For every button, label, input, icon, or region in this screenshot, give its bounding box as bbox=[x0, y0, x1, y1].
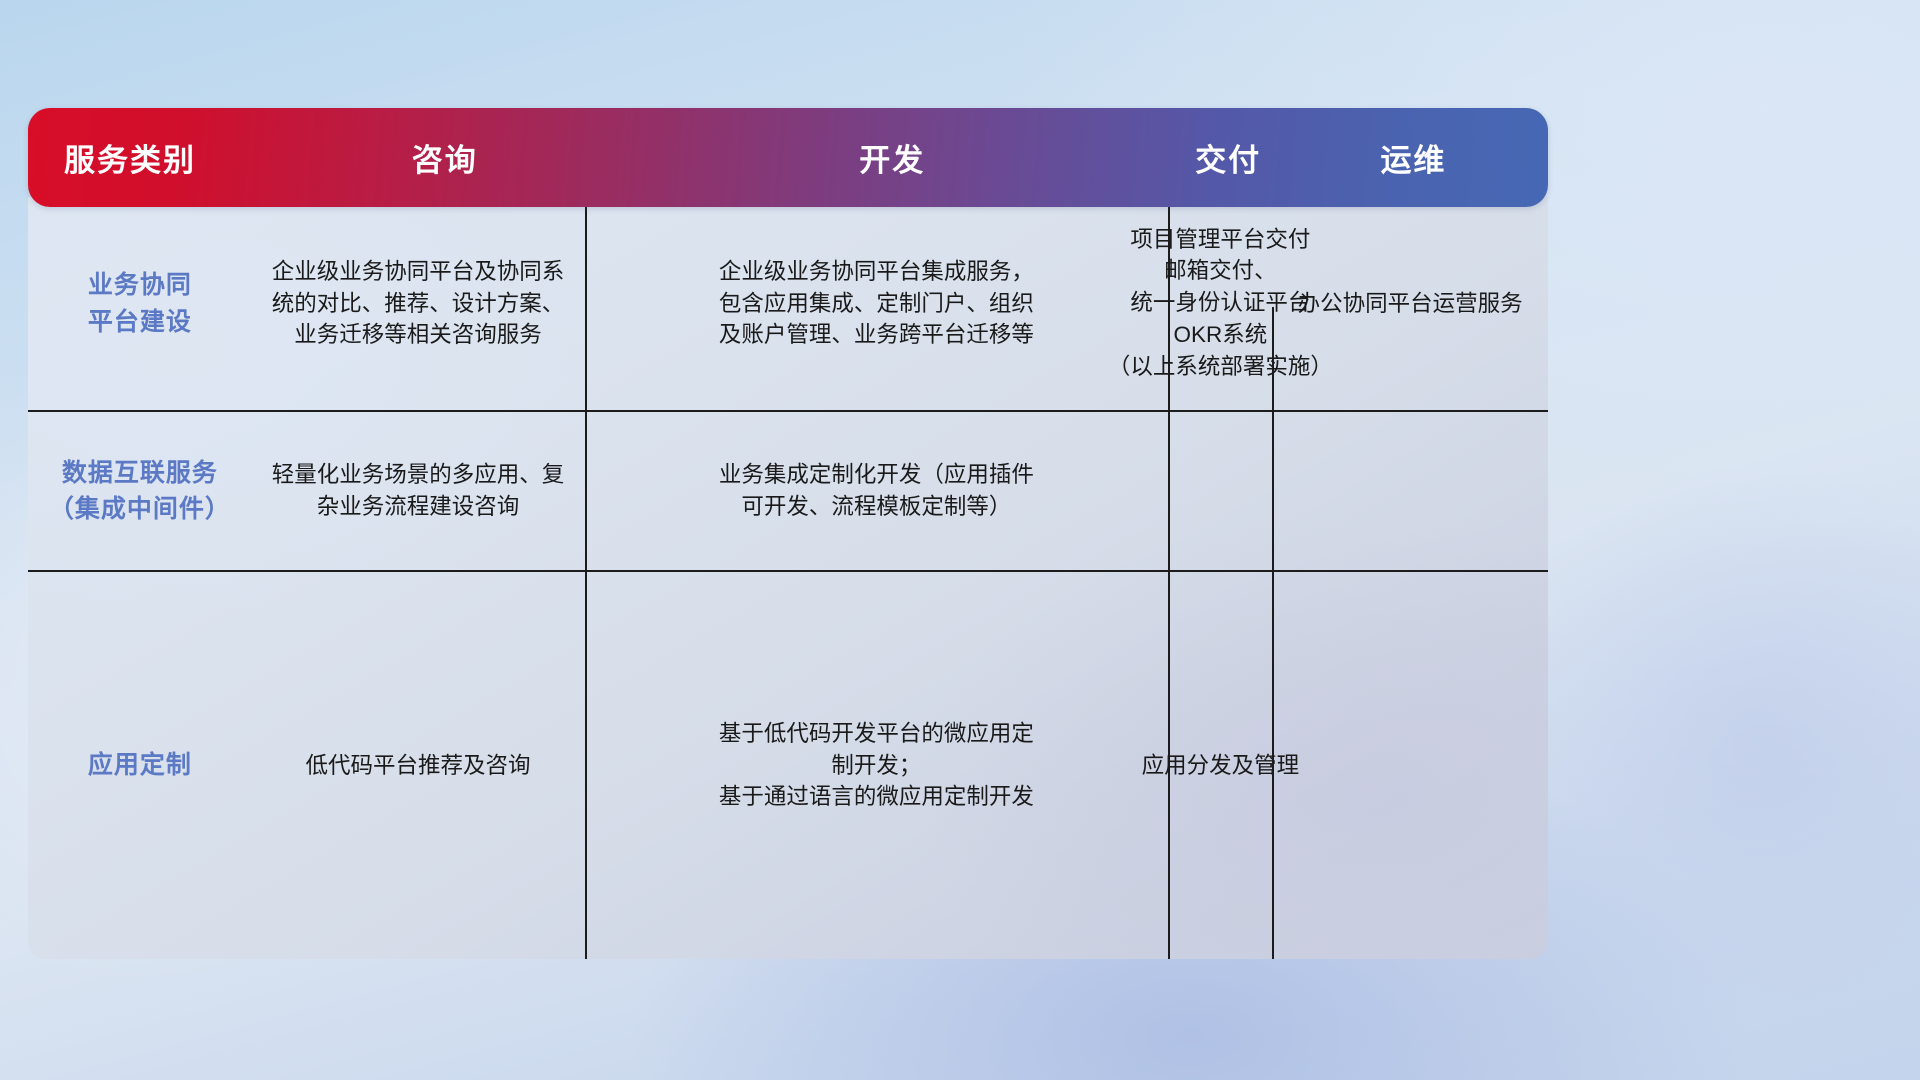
cell-consulting: 低代码平台推荐及咨询 bbox=[252, 750, 585, 782]
column-header-delivery: 交付 bbox=[1177, 135, 1278, 180]
table-row: 数据互联服务 （集成中间件） 轻量化业务场景的多应用、复 杂业务流程建设咨询 业… bbox=[28, 412, 1548, 570]
cell-consulting: 轻量化业务场景的多应用、复 杂业务流程建设咨询 bbox=[252, 459, 585, 523]
table-body: 业务协同 平台建设 企业级业务协同平台及协同系 统的对比、推荐、设计方案、 业务… bbox=[28, 197, 1548, 959]
cell-development: 业务集成定制化开发（应用插件 可开发、流程模板定制等） bbox=[584, 459, 1168, 523]
row-category-label: 业务协同 平台建设 bbox=[28, 267, 252, 340]
service-matrix-table: 服务类别 咨询 开发 交付 运维 业务协同 平台建设 企业级业务协同平台及协同系… bbox=[28, 108, 1548, 960]
column-header-consulting: 咨询 bbox=[282, 135, 607, 180]
column-header-service-category: 服务类别 bbox=[28, 135, 282, 180]
row-category-label: 应用定制 bbox=[28, 747, 252, 783]
cell-consulting: 企业级业务协同平台及协同系 统的对比、推荐、设计方案、 业务迁移等相关咨询服务 bbox=[252, 256, 585, 352]
column-header-development: 开发 bbox=[607, 135, 1177, 180]
column-header-operations: 运维 bbox=[1279, 135, 1548, 180]
table-header-row: 服务类别 咨询 开发 交付 运维 bbox=[28, 108, 1548, 207]
row-category-label: 数据互联服务 （集成中间件） bbox=[28, 455, 252, 528]
table-row: 业务协同 平台建设 企业级业务协同平台及协同系 统的对比、推荐、设计方案、 业务… bbox=[28, 197, 1548, 410]
table-row: 应用定制 低代码平台推荐及咨询 基于低代码开发平台的微应用定 制开发； 基于通过… bbox=[28, 572, 1548, 959]
